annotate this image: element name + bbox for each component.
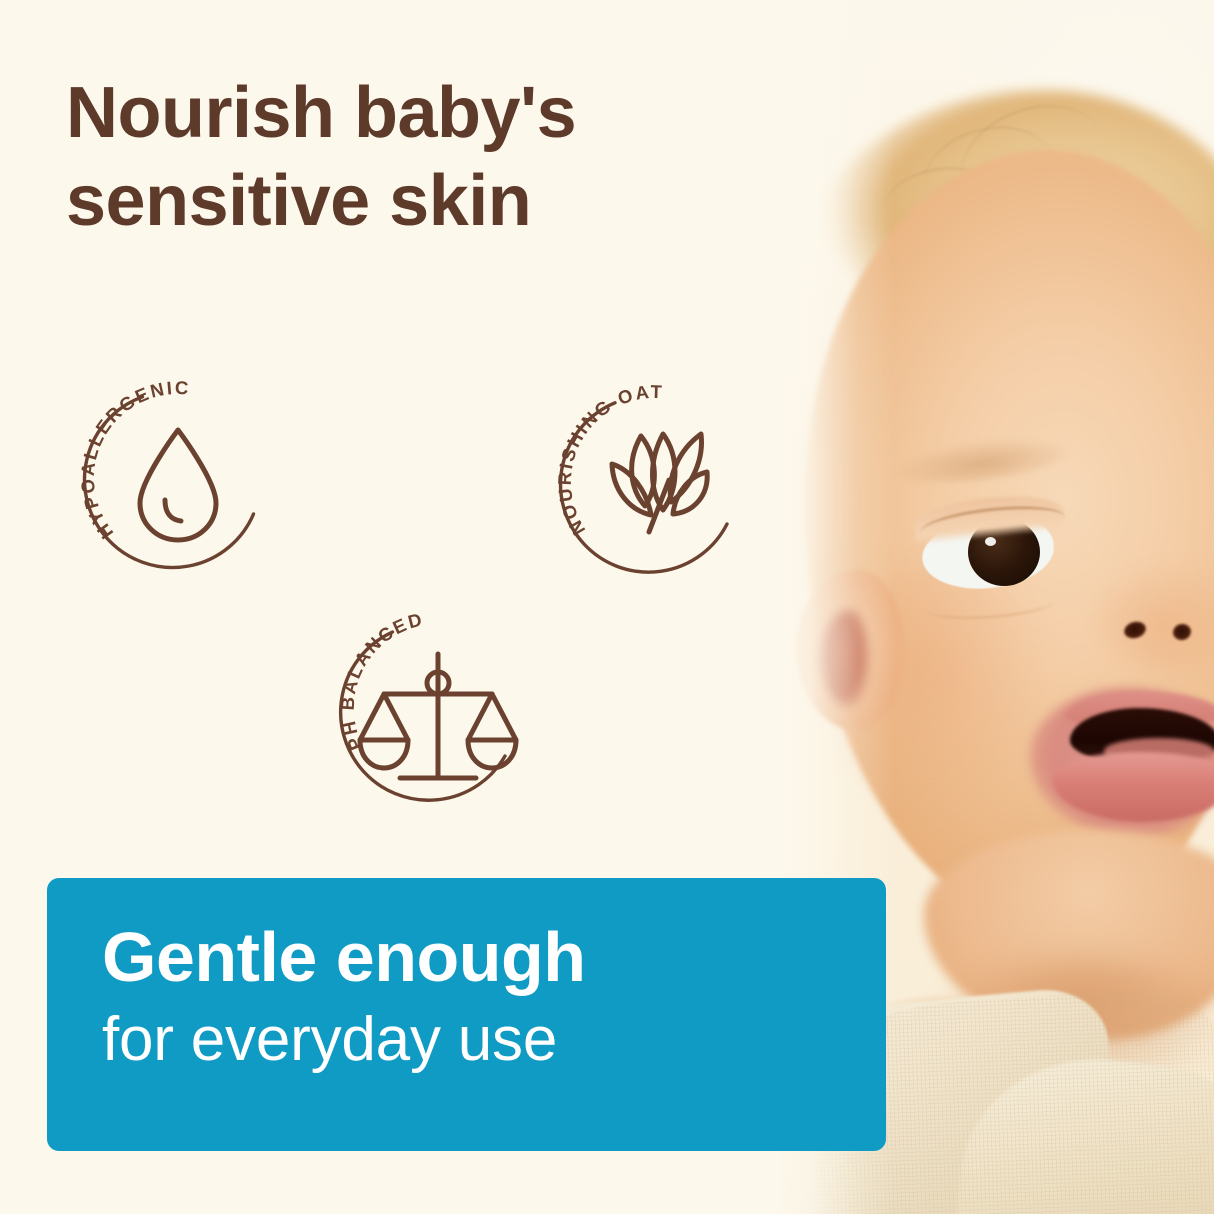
gentle-banner: Gentle enough for everyday use <box>47 878 886 1151</box>
banner-headline: Gentle enough <box>102 922 886 993</box>
oat-leaf-icon <box>612 434 707 532</box>
promo-canvas: Nourish baby'ssensitive skin HYPOALLERGE… <box>0 0 1214 1214</box>
baby-ear-inner <box>820 610 868 706</box>
balance-scale-icon <box>360 654 516 778</box>
badge-label: PH BALANCED <box>337 608 426 753</box>
badge-nourishing-oat: NOURISHING OAT <box>549 376 761 588</box>
water-droplet-icon <box>140 430 216 540</box>
banner-subheadline: for everyday use <box>102 1005 886 1076</box>
badge-hypoallergenic: HYPOALLERGENIC <box>72 372 284 584</box>
headline-line-2: sensitive skin <box>66 161 531 241</box>
badge-ph-balanced: PH BALANCED <box>332 602 544 814</box>
page-title: Nourish baby'ssensitive skin <box>66 70 826 246</box>
headline-line-1: Nourish baby's <box>66 73 576 153</box>
